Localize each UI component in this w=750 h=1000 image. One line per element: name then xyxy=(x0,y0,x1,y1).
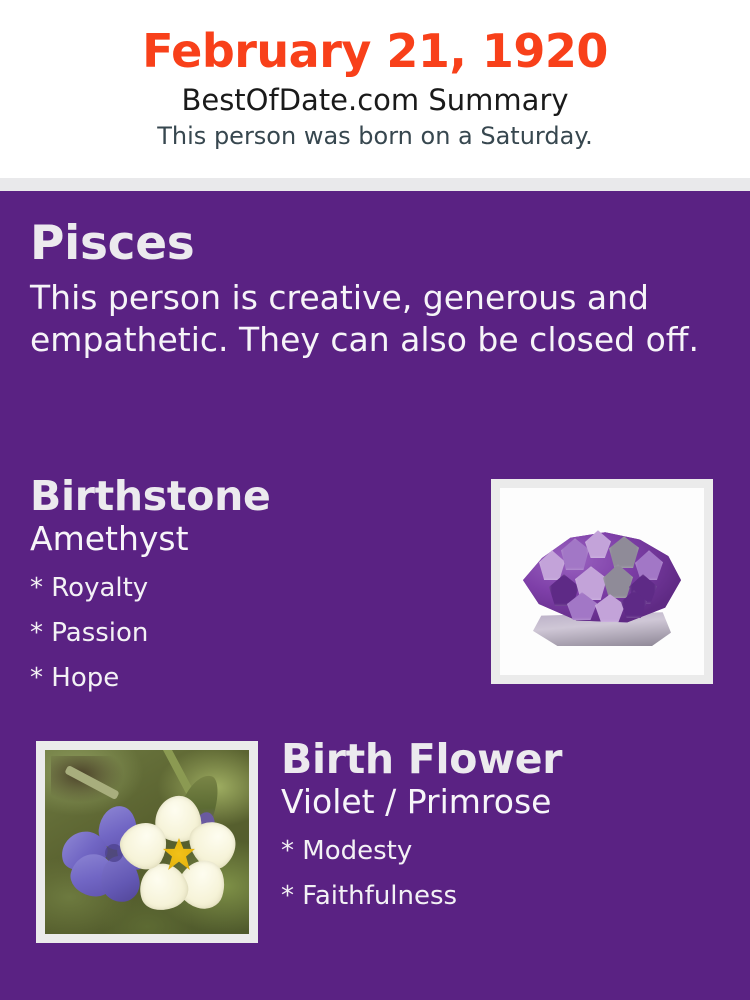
birthstone-heading: Birthstone xyxy=(30,474,470,518)
date-summary-infographic: February 21, 1920 BestOfDate.com Summary… xyxy=(0,0,750,1000)
site-summary-label: BestOfDate.com Summary xyxy=(0,84,750,117)
birthstone-section: Birthstone Amethyst * Royalty * Passion … xyxy=(30,474,470,700)
header-divider xyxy=(0,178,750,191)
amethyst-image-frame xyxy=(491,479,713,684)
list-item: * Modesty xyxy=(281,829,731,874)
list-item: * Passion xyxy=(30,611,470,656)
birthstone-name: Amethyst xyxy=(30,520,470,558)
primrose-flower-icon xyxy=(121,796,239,914)
zodiac-description: This person is creative, generous and em… xyxy=(30,277,700,360)
birth-flower-name: Violet / Primrose xyxy=(281,783,731,821)
list-item: * Faithfulness xyxy=(281,874,731,919)
list-item: * Royalty xyxy=(30,566,470,611)
list-item: * Hope xyxy=(30,656,470,701)
amethyst-crystal-image xyxy=(500,488,704,675)
birth-flower-section: Birth Flower Violet / Primrose * Modesty… xyxy=(281,737,731,919)
birth-flower-trait-list: * Modesty * Faithfulness xyxy=(281,829,731,918)
amethyst-crystal-icon xyxy=(523,524,681,646)
zodiac-section: Pisces This person is creative, generous… xyxy=(30,219,710,361)
violet-primrose-image xyxy=(45,750,249,934)
zodiac-sign-name: Pisces xyxy=(30,219,710,268)
birth-flower-heading: Birth Flower xyxy=(281,737,731,781)
birthstone-trait-list: * Royalty * Passion * Hope xyxy=(30,566,470,700)
page-title: February 21, 1920 xyxy=(0,26,750,77)
flower-image-frame xyxy=(36,741,258,943)
header-panel: February 21, 1920 BestOfDate.com Summary… xyxy=(0,0,750,178)
born-day-statement: This person was born on a Saturday. xyxy=(0,123,750,151)
